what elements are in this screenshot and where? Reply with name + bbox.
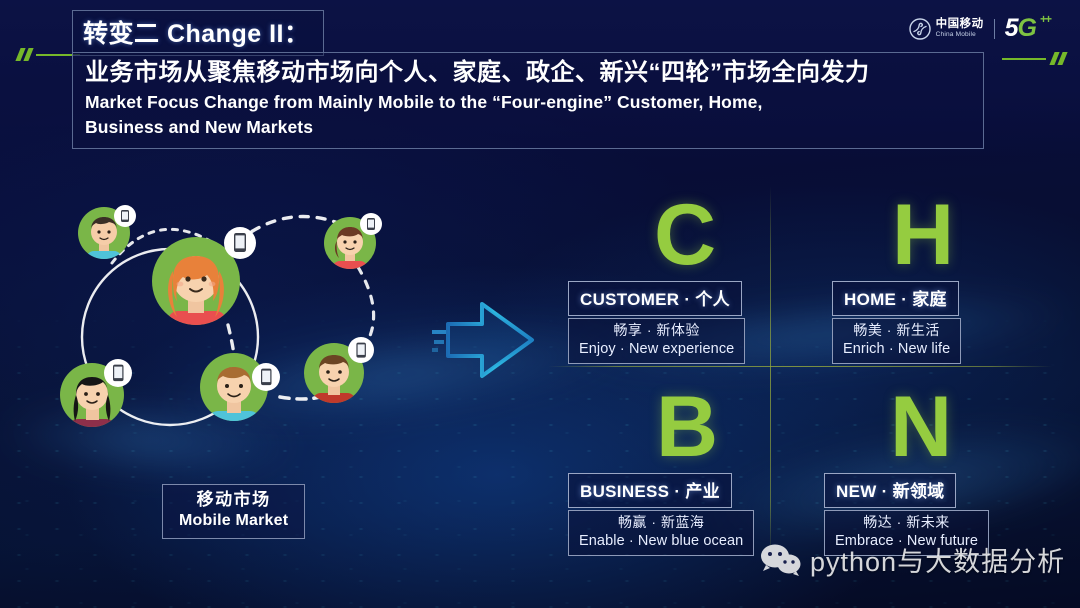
quadrant-desc-chinese-business: 畅赢 · 新蓝海 [579, 514, 743, 532]
quadrant-business: B BUSINESS · 产业 畅赢 · 新蓝海 Enable · New bl… [568, 388, 792, 556]
quadrant-letter-n: N [818, 388, 1024, 467]
right-arrow-icon [432, 294, 544, 386]
quadrant-home: H HOME · 家庭 畅美 · 新生活 Enrich · New life [800, 196, 1024, 364]
header-band: 转变二 Change II： 业务市场从聚焦移动市场向个人、家庭、政企、新兴“四… [0, 0, 1080, 158]
quadrant-desc-english-business: Enable · New blue ocean [579, 532, 743, 551]
quadrant-label-new: NEW · 新领域 [836, 482, 944, 501]
accent-mark-right [1002, 52, 1072, 66]
headline-chinese: 业务市场从聚焦移动市场向个人、家庭、政企、新兴“四轮”市场全向发力 [85, 58, 971, 89]
brand-name-english: China Mobile [936, 32, 984, 39]
quadrant-label-customer: CUSTOMER · 个人 [580, 290, 730, 309]
five-g-letter: G [1018, 14, 1036, 42]
quadrant-label-box-home: HOME · 家庭 [832, 281, 959, 316]
quadrant-new: N NEW · 新领域 畅达 · 新未来 Embrace · New futur… [800, 388, 1024, 556]
headline-english-line2: Business and New Markets [85, 115, 971, 139]
quadrant-label-box-customer: CUSTOMER · 个人 [568, 281, 742, 316]
headline-english-line1: Market Focus Change from Mainly Mobile t… [85, 90, 971, 114]
quadrant-customer: C CUSTOMER · 个人 畅享 · 新体验 Enjoy · New exp… [568, 196, 792, 364]
phone-badge-3 [360, 213, 382, 235]
quadrant-letter-c: C [578, 196, 792, 275]
mobile-market-label-english: Mobile Market [179, 511, 288, 531]
quadrant-divider-horizontal [548, 366, 1052, 367]
quadrant-desc-chinese-new: 畅达 · 新未来 [835, 514, 978, 532]
brand-name-chinese: 中国移动 [936, 19, 984, 31]
quadrant-label-business: BUSINESS · 产业 [580, 482, 720, 501]
quadrant-desc-chinese-customer: 畅享 · 新体验 [579, 322, 734, 340]
phone-badge-1 [114, 205, 136, 227]
quadrant-desc-box-customer: 畅享 · 新体验 Enjoy · New experience [568, 318, 745, 364]
five-g-plus: ++ [1040, 12, 1050, 26]
logo-divider [994, 19, 995, 39]
people-network-graphic [52, 185, 412, 475]
quadrant-letter-b: B [582, 388, 792, 467]
slide-canvas: 转变二 Change II： 业务市场从聚焦移动市场向个人、家庭、政企、新兴“四… [0, 0, 1080, 608]
headline-box: 业务市场从聚焦移动市场向个人、家庭、政企、新兴“四轮”市场全向发力 Market… [72, 52, 984, 149]
mobile-market-label-chinese: 移动市场 [179, 490, 288, 510]
quadrant-desc-english-new: Embrace · New future [835, 532, 978, 551]
quadrant-desc-english-home: Enrich · New life [843, 340, 950, 359]
quadrant-label-home: HOME · 家庭 [844, 290, 947, 309]
quadrant-desc-english-customer: Enjoy · New experience [579, 340, 734, 359]
transition-arrow [432, 294, 544, 386]
quadrant-desc-box-new: 畅达 · 新未来 Embrace · New future [824, 510, 989, 556]
quadrant-desc-box-business: 畅赢 · 新蓝海 Enable · New blue ocean [568, 510, 754, 556]
phone-badge-2 [224, 227, 256, 259]
phone-badge-6 [104, 359, 132, 387]
quadrant-letter-h: H [822, 196, 1024, 275]
mobile-market-label-box: 移动市场 Mobile Market [162, 484, 305, 539]
brand-logo-group: 中国移动 China Mobile 5G++ [909, 14, 1036, 43]
quadrant-label-box-new: NEW · 新领域 [824, 473, 956, 508]
quadrant-desc-chinese-home: 畅美 · 新生活 [843, 322, 950, 340]
phone-badge-4 [348, 337, 374, 363]
five-g-logo: 5G++ [1005, 14, 1036, 43]
china-mobile-mark-icon [909, 18, 931, 40]
china-mobile-logo: 中国移动 China Mobile [909, 18, 984, 40]
mobile-market-illustration [52, 185, 412, 475]
quadrant-label-box-business: BUSINESS · 产业 [568, 473, 732, 508]
phone-badge-5 [252, 363, 280, 391]
slide-title-box: 转变二 Change II： [72, 10, 324, 56]
page-title: 转变二 Change II： [83, 14, 309, 50]
accent-mark-left [18, 48, 80, 62]
five-g-number: 5 [1005, 14, 1018, 42]
quadrant-desc-box-home: 畅美 · 新生活 Enrich · New life [832, 318, 961, 364]
